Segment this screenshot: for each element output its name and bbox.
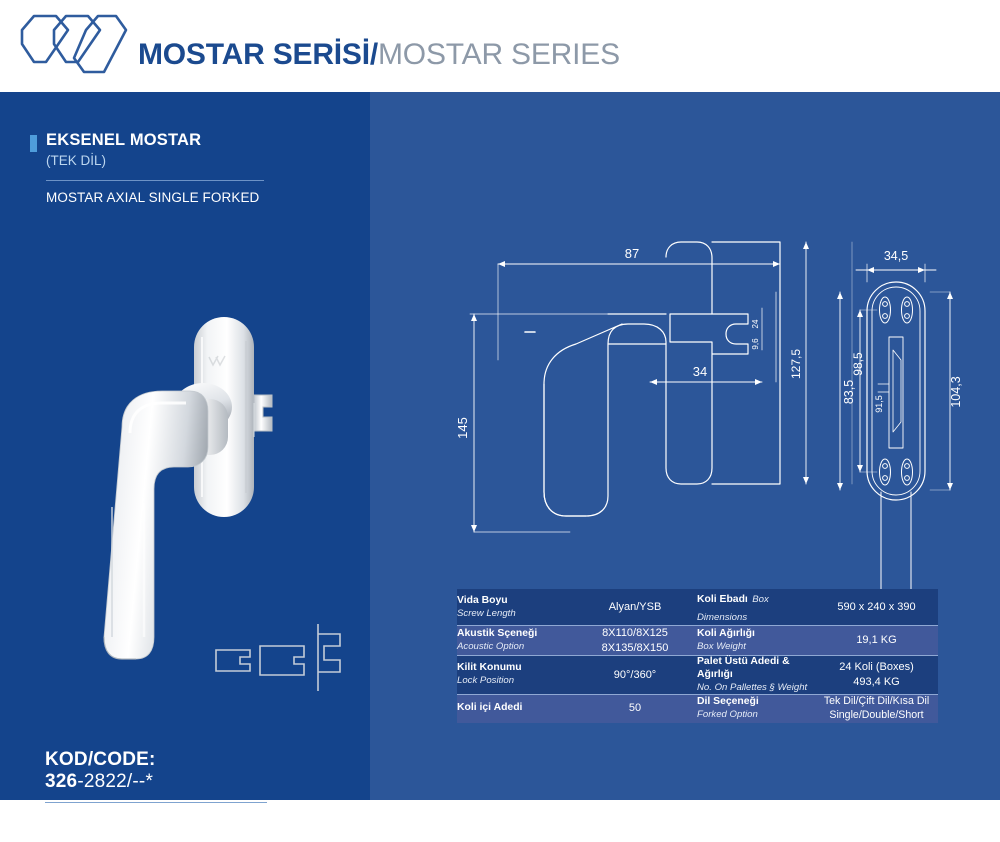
spec-value-cell: 8X110/8X1258X135/8X150 bbox=[573, 626, 697, 656]
spec-value: Alyan/YSB bbox=[573, 600, 697, 615]
spec-key2-cell: Koli Ebadı Box Dimensions bbox=[697, 589, 815, 626]
product-name-tr: EKSENEL MOSTAR bbox=[46, 132, 201, 149]
handle-side-profile-drawing: 87 145 127,5 98,5 34 bbox=[455, 242, 865, 532]
spec-key2-tr: Koli Ağırlığı bbox=[697, 628, 815, 641]
spec-key2-cell: Koli Ağırlığı Box Weight bbox=[697, 626, 815, 656]
product-name-row: EKSENEL MOSTAR bbox=[30, 132, 340, 152]
dim-24: 24 bbox=[751, 319, 760, 328]
dim-83-5: 83,5 bbox=[842, 380, 856, 404]
code-value: 326-2822/--* bbox=[45, 771, 275, 793]
product-code-block: KOD/CODE: 326-2822/--* *Renk Kodu seçimi… bbox=[45, 749, 275, 842]
handle-rosette-plan-drawing: 34,5 83,5 104,3 91,5 bbox=[837, 249, 963, 592]
spec-value-cell: 90°/360° bbox=[573, 656, 697, 695]
left-panel: EKSENEL MOSTAR (TEK DİL) MOSTAR AXIAL SI… bbox=[0, 92, 370, 800]
title-separator: / bbox=[370, 38, 378, 71]
table-row: Koli içi Adedi 50 Dil Seçeneği Forked Op… bbox=[457, 694, 938, 722]
table-row: Kilit Konumu Lock Position 90°/360° Pale… bbox=[457, 656, 938, 695]
spec-key-en: Lock Position bbox=[457, 675, 573, 687]
spec-key-tr: Koli içi Adedi bbox=[457, 702, 573, 715]
title-turkish: MOSTAR SERİSİ bbox=[138, 38, 370, 71]
spec-value2-cell: 19,1 KG bbox=[815, 626, 938, 656]
product-variant-tr: (TEK DİL) bbox=[46, 154, 340, 169]
spec-key2-cell: Palet Üstü Adedi & Ağırlığı No. On Palle… bbox=[697, 656, 815, 695]
spec-key2-tr: Palet Üstü Adedi & Ağırlığı bbox=[697, 656, 815, 682]
spec-value2-cell: 24 Koli (Boxes)493,4 KG bbox=[815, 656, 938, 695]
spec-key-en: Screw Length bbox=[457, 608, 573, 620]
spec-value: 90°/360° bbox=[573, 668, 697, 683]
code-suffix: -2822/--* bbox=[77, 771, 153, 792]
spec-value: 8X110/8X1258X135/8X150 bbox=[573, 626, 697, 655]
spec-key-tr: Kilit Konumu bbox=[457, 662, 573, 675]
spec-value-cell: Alyan/YSB bbox=[573, 589, 697, 626]
dim-9-6: 9,6 bbox=[751, 338, 760, 350]
colour-note-en: *See page 21. for the colour codes. bbox=[45, 826, 275, 841]
page-header: MOSTAR SERİSİ/MOSTAR SERIES bbox=[0, 0, 1000, 92]
code-prefix: 326 bbox=[45, 771, 77, 792]
spec-value2: 24 Koli (Boxes)493,4 KG bbox=[815, 660, 938, 689]
product-name-en: MOSTAR AXIAL SINGLE FORKED bbox=[46, 190, 340, 205]
spec-key-tr: Akustik Sçeneği bbox=[457, 628, 573, 641]
spec-key2-tr: Dil Seçeneği bbox=[697, 696, 815, 709]
spec-key2-en: Forked Option bbox=[697, 709, 815, 721]
colour-note-tr: *Renk Kodu seçimi için 21. sayfaya bakın… bbox=[45, 811, 275, 826]
profile-section-2-icon bbox=[260, 646, 304, 675]
spec-value: 50 bbox=[573, 701, 697, 716]
spec-table-body: Vida Boyu Screw Length Alyan/YSB Koli Eb… bbox=[457, 589, 938, 723]
spec-value2: 590 x 240 x 390 bbox=[815, 600, 938, 615]
spec-value2-cell: 590 x 240 x 390 bbox=[815, 589, 938, 626]
profile-section-1-icon bbox=[216, 650, 250, 671]
spec-value2-cell: Tek Dil/Çift Dil/Kısa DilSingle/Double/S… bbox=[815, 694, 938, 722]
wm-hexagon-logo-icon bbox=[12, 10, 132, 82]
spec-key2-en: No. On Pallettes § Weight bbox=[697, 682, 815, 694]
spec-value2: 19,1 KG bbox=[815, 633, 938, 648]
spec-value-cell: 50 bbox=[573, 694, 697, 722]
spec-key-cell: Vida Boyu Screw Length bbox=[457, 589, 573, 626]
code-label: KOD/CODE: bbox=[45, 749, 275, 771]
spec-key-en: Acoustic Option bbox=[457, 641, 573, 653]
dim-91-5: 91,5 bbox=[874, 395, 884, 413]
dim-34-5: 34,5 bbox=[884, 249, 908, 263]
heading-divider bbox=[46, 180, 264, 181]
spec-key2-cell: Dil Seçeneği Forked Option bbox=[697, 694, 815, 722]
technical-drawings: 87 145 127,5 98,5 34 bbox=[370, 92, 1000, 592]
handle-lever bbox=[104, 391, 208, 659]
accent-bar-icon bbox=[30, 135, 37, 152]
table-row: Akustik Sçeneği Acoustic Option 8X110/8X… bbox=[457, 626, 938, 656]
dim-34: 34 bbox=[693, 364, 707, 379]
spec-key2-en: Box Weight bbox=[697, 641, 815, 653]
profile-section-3-icon bbox=[318, 634, 340, 672]
product-heading: EKSENEL MOSTAR (TEK DİL) MOSTAR AXIAL SI… bbox=[30, 132, 340, 205]
code-divider bbox=[45, 802, 267, 803]
profile-section-icons bbox=[212, 620, 352, 695]
page-title: MOSTAR SERİSİ/MOSTAR SERIES bbox=[138, 38, 620, 72]
catalog-page: MOSTAR SERİSİ/MOSTAR SERIES EKSENEL MOST… bbox=[0, 0, 1000, 800]
dim-127-5: 127,5 bbox=[789, 349, 803, 379]
dim-98-5: 98,5 bbox=[851, 352, 865, 376]
spec-key2-tr: Koli Ebadı bbox=[697, 594, 748, 605]
dim-145: 145 bbox=[455, 417, 470, 439]
table-row: Vida Boyu Screw Length Alyan/YSB Koli Eb… bbox=[457, 589, 938, 626]
spec-key-cell: Kilit Konumu Lock Position bbox=[457, 656, 573, 695]
dim-104-3: 104,3 bbox=[949, 376, 963, 407]
title-english: MOSTAR SERIES bbox=[378, 38, 620, 71]
dim-87: 87 bbox=[625, 246, 639, 261]
spec-value2: Tek Dil/Çift Dil/Kısa DilSingle/Double/S… bbox=[815, 695, 938, 723]
specification-table: Vida Boyu Screw Length Alyan/YSB Koli Eb… bbox=[457, 589, 938, 723]
spec-key-cell: Koli içi Adedi bbox=[457, 694, 573, 722]
handle-spindle bbox=[254, 395, 272, 437]
spec-key-cell: Akustik Sçeneği Acoustic Option bbox=[457, 626, 573, 656]
spec-key-tr: Vida Boyu bbox=[457, 595, 573, 608]
